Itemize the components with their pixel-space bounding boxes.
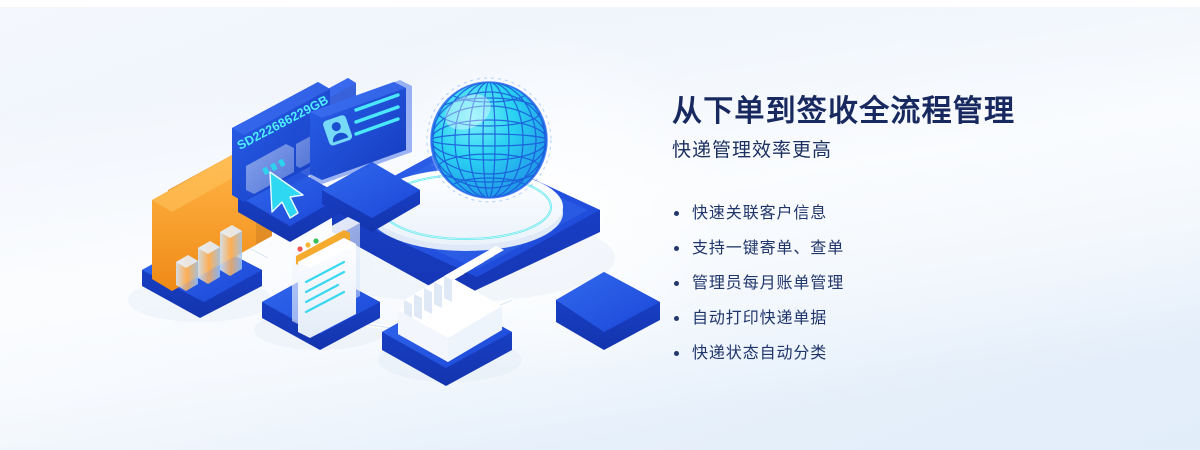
hero-banner: SD222686229GB bbox=[0, 0, 1200, 450]
bullet-dot-icon bbox=[674, 246, 679, 251]
bullet-dot-icon bbox=[674, 316, 679, 321]
page-title: 从下单到签收全流程管理 bbox=[672, 95, 1152, 130]
list-item: 管理员每月账单管理 bbox=[672, 274, 1152, 294]
feature-label: 快速关联客户信息 bbox=[692, 205, 827, 222]
list-item: 自动打印快递单据 bbox=[672, 309, 1152, 329]
bullet-dot-icon bbox=[674, 211, 679, 216]
list-item: 快速关联客户信息 bbox=[672, 204, 1152, 224]
isometric-illustration: SD222686229GB bbox=[0, 0, 660, 450]
bullet-dot-icon bbox=[674, 351, 679, 356]
list-item: 支持一键寄单、查单 bbox=[672, 239, 1152, 259]
feature-label: 自动打印快递单据 bbox=[692, 310, 827, 327]
feature-label: 管理员每月账单管理 bbox=[692, 275, 844, 292]
feature-label: 快递状态自动分类 bbox=[692, 345, 827, 362]
page-subtitle: 快递管理效率更高 bbox=[672, 139, 1152, 164]
list-item: 快递状态自动分类 bbox=[672, 344, 1152, 364]
feature-list: 快速关联客户信息 支持一键寄单、查单 管理员每月账单管理 自动打印快递单据 快递… bbox=[672, 204, 1152, 364]
bullet-dot-icon bbox=[674, 281, 679, 286]
hero-copy: 从下单到签收全流程管理 快递管理效率更高 快速关联客户信息 支持一键寄单、查单 … bbox=[672, 95, 1152, 364]
feature-label: 支持一键寄单、查单 bbox=[692, 240, 844, 257]
